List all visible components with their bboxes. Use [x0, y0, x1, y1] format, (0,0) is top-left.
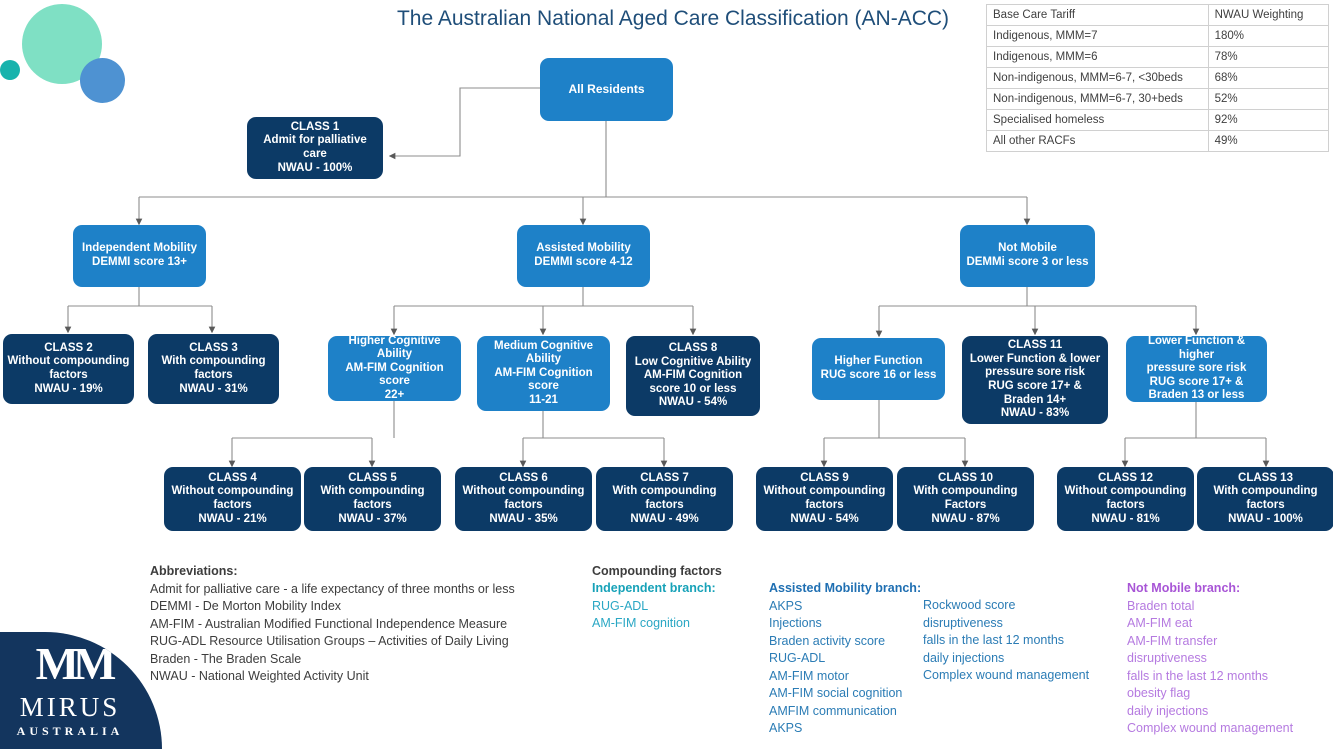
node-medium-cognitive-ability[interactable]: Medium CognitiveAbilityAM-FIM Cognition … — [477, 336, 610, 411]
node-medium-cognitive-ability-text: Medium CognitiveAbilityAM-FIM Cognition … — [481, 340, 606, 408]
node-line: With compounding — [152, 355, 275, 369]
node-class-11[interactable]: CLASS 11Lower Function & lowerpressure s… — [962, 336, 1108, 424]
node-line: NWAU - 81% — [1061, 513, 1190, 527]
node-assisted-mobility[interactable]: Assisted MobilityDEMMI score 4-12 — [517, 225, 650, 287]
independent-branch-item: AM-FIM cognition — [592, 615, 716, 633]
node-line: NWAU - 83% — [966, 407, 1104, 421]
assisted-branch-item: RUG-ADL — [769, 650, 921, 668]
abbreviations-block: Abbreviations: Admit for palliative care… — [150, 563, 515, 686]
node-line: With compounding — [901, 485, 1030, 499]
not-mobile-branch-item: daily injections — [1127, 703, 1293, 721]
node-line: factors — [1061, 499, 1190, 513]
assisted-branch-item: AMFIM communication — [769, 703, 921, 721]
node-line: DEMMI score 4-12 — [521, 256, 646, 270]
node-higher-function-text: Higher FunctionRUG score 16 or less — [816, 355, 941, 382]
node-line: Without compounding — [168, 485, 297, 499]
mirus-monogram-icon: MM — [18, 640, 128, 688]
not-mobile-branch-item: disruptiveness — [1127, 650, 1293, 668]
node-line: CLASS 1 — [251, 121, 379, 135]
node-class-1-text: CLASS 1Admit for palliative careNWAU - 1… — [251, 121, 379, 175]
node-not-mobile-text: Not MobileDEMMi score 3 or less — [964, 242, 1091, 269]
node-line: NWAU - 31% — [152, 383, 275, 397]
node-line: CLASS 11 — [966, 339, 1104, 353]
assisted-branch-list-second-column: Rockwood scoredisruptivenessfalls in the… — [923, 597, 1089, 685]
not-mobile-branch-item: falls in the last 12 months — [1127, 668, 1293, 686]
node-class-5-text: CLASS 5With compoundingfactorsNWAU - 37% — [308, 472, 437, 526]
compounding-factors-heading-block: Compounding factors — [592, 563, 722, 581]
node-line: Low Cognitive Ability — [630, 356, 756, 370]
node-not-mobile[interactable]: Not MobileDEMMi score 3 or less — [960, 225, 1095, 287]
node-class-2[interactable]: CLASS 2Without compoundingfactorsNWAU - … — [3, 334, 134, 404]
not-mobile-branch-heading: Not Mobile branch: — [1127, 580, 1293, 598]
node-class-9-text: CLASS 9Without compoundingfactorsNWAU - … — [760, 472, 889, 526]
node-line: CLASS 4 — [168, 472, 297, 486]
node-class-6[interactable]: CLASS 6Without compoundingfactorsNWAU - … — [455, 467, 592, 531]
assisted-branch-item: AKPS — [769, 720, 921, 738]
assisted-branch-list-2: Rockwood scoredisruptivenessfalls in the… — [923, 597, 1089, 685]
node-independent-mobility[interactable]: Independent MobilityDEMMI score 13+ — [73, 225, 206, 287]
node-line: factors — [168, 499, 297, 513]
node-class-7[interactable]: CLASS 7With compoundingfactorsNWAU - 49% — [596, 467, 733, 531]
node-class-12[interactable]: CLASS 12Without compoundingfactorsNWAU -… — [1057, 467, 1194, 531]
node-line: Higher Function — [816, 355, 941, 369]
mirus-logo-subtitle: AUSTRALIA — [0, 724, 140, 739]
node-class-5[interactable]: CLASS 5With compoundingfactorsNWAU - 37% — [304, 467, 441, 531]
node-line: CLASS 7 — [600, 472, 729, 486]
node-line: Factors — [901, 499, 1030, 513]
node-line: CLASS 5 — [308, 472, 437, 486]
node-all-residents-text: All Residents — [544, 82, 669, 96]
node-class-10[interactable]: CLASS 10With compoundingFactorsNWAU - 87… — [897, 467, 1034, 531]
node-line: With compounding — [1201, 485, 1330, 499]
not-mobile-branch-item: Complex wound management — [1127, 720, 1293, 738]
node-line: Admit for palliative care — [251, 134, 379, 161]
not-mobile-branch-item: Braden total — [1127, 598, 1293, 616]
node-line: CLASS 8 — [630, 342, 756, 356]
node-line: factors — [760, 499, 889, 513]
node-line: Higher Cognitive Ability — [332, 335, 457, 362]
independent-branch-item: RUG-ADL — [592, 598, 716, 616]
node-line: factors — [600, 499, 729, 513]
not-mobile-branch-item: obesity flag — [1127, 685, 1293, 703]
node-line: factors — [459, 499, 588, 513]
assisted-branch-block: Assisted Mobility branch: AKPSInjections… — [769, 580, 921, 738]
node-line: NWAU - 54% — [630, 396, 756, 410]
node-line: CLASS 12 — [1061, 472, 1190, 486]
abbreviation-item: RUG-ADL Resource Utilisation Groups – Ac… — [150, 633, 515, 651]
assisted-branch-item: AM-FIM social cognition — [769, 685, 921, 703]
node-line: score 10 or less — [630, 383, 756, 397]
node-line: pressure sore risk — [966, 366, 1104, 380]
node-higher-cognitive-ability-text: Higher Cognitive AbilityAM-FIM Cognition… — [332, 335, 457, 403]
node-line: RUG score 16 or less — [816, 369, 941, 383]
node-line: NWAU - 87% — [901, 513, 1030, 527]
node-class-12-text: CLASS 12Without compoundingfactorsNWAU -… — [1061, 472, 1190, 526]
node-line: CLASS 9 — [760, 472, 889, 486]
node-line: Without compounding — [1061, 485, 1190, 499]
node-line: Medium Cognitive — [481, 340, 606, 354]
node-line: AM-FIM Cognition score — [481, 367, 606, 394]
mirus-logo-name: MIRUS — [0, 692, 140, 723]
node-line: CLASS 10 — [901, 472, 1030, 486]
node-class-4-text: CLASS 4Without compoundingfactorsNWAU - … — [168, 472, 297, 526]
node-line: Lower Function & lower — [966, 353, 1104, 367]
node-line: With compounding — [308, 485, 437, 499]
abbreviations-heading: Abbreviations: — [150, 563, 515, 581]
node-line: CLASS 13 — [1201, 472, 1330, 486]
node-class-13-text: CLASS 13With compoundingfactorsNWAU - 10… — [1201, 472, 1330, 526]
node-line: Without compounding — [760, 485, 889, 499]
node-class-13[interactable]: CLASS 13With compoundingfactorsNWAU - 10… — [1197, 467, 1333, 531]
not-mobile-branch-block: Not Mobile branch: Braden totalAM-FIM ea… — [1127, 580, 1293, 738]
node-line: CLASS 3 — [152, 342, 275, 356]
node-class-2-text: CLASS 2Without compoundingfactorsNWAU - … — [7, 342, 130, 396]
assisted-branch-item: Braden activity score — [769, 633, 921, 651]
node-line: NWAU - 54% — [760, 513, 889, 527]
node-line: AM-FIM Cognition score — [332, 362, 457, 389]
node-line: 11-21 — [481, 394, 606, 408]
node-line: RUG score 17+ & — [1130, 376, 1263, 390]
independent-branch-heading: Independent branch: — [592, 580, 716, 598]
not-mobile-branch-item: AM-FIM eat — [1127, 615, 1293, 633]
node-class-11-text: CLASS 11Lower Function & lowerpressure s… — [966, 339, 1104, 420]
node-lower-function-text: Lower Function & higherpressure sore ris… — [1130, 335, 1263, 403]
node-line: Without compounding — [459, 485, 588, 499]
node-line: pressure sore risk — [1130, 362, 1263, 376]
node-class-7-text: CLASS 7With compoundingfactorsNWAU - 49% — [600, 472, 729, 526]
assisted-branch-item: AKPS — [769, 598, 921, 616]
node-line: factors — [152, 369, 275, 383]
node-line: DEMMI score 13+ — [77, 256, 202, 270]
assisted-branch-heading: Assisted Mobility branch: — [769, 580, 921, 598]
abbreviation-item: DEMMI - De Morton Mobility Index — [150, 598, 515, 616]
node-line: Lower Function & higher — [1130, 335, 1263, 362]
abbreviations-list: Admit for palliative care - a life expec… — [150, 581, 515, 686]
node-assisted-mobility-text: Assisted MobilityDEMMI score 4-12 — [521, 242, 646, 269]
node-higher-function[interactable]: Higher FunctionRUG score 16 or less — [812, 338, 945, 400]
abbreviation-item: Braden - The Braden Scale — [150, 651, 515, 669]
node-higher-cognitive-ability[interactable]: Higher Cognitive AbilityAM-FIM Cognition… — [328, 336, 461, 401]
not-mobile-branch-item: AM-FIM transfer — [1127, 633, 1293, 651]
assisted-branch-item: Injections — [769, 615, 921, 633]
node-line: NWAU - 49% — [600, 513, 729, 527]
node-class-9[interactable]: CLASS 9Without compoundingfactorsNWAU - … — [756, 467, 893, 531]
assisted-branch-item: falls in the last 12 months — [923, 632, 1089, 650]
node-line: Ability — [481, 353, 606, 367]
abbreviation-item: Admit for palliative care - a life expec… — [150, 581, 515, 599]
independent-branch-list: RUG-ADLAM-FIM cognition — [592, 598, 716, 633]
node-line: DEMMi score 3 or less — [964, 256, 1091, 270]
node-line: Braden 13 or less — [1130, 389, 1263, 403]
node-class-1[interactable]: CLASS 1Admit for palliative careNWAU - 1… — [247, 117, 383, 179]
node-line: CLASS 6 — [459, 472, 588, 486]
node-line: All Residents — [544, 82, 669, 96]
node-class-4[interactable]: CLASS 4Without compoundingfactorsNWAU - … — [164, 467, 301, 531]
node-line: Assisted Mobility — [521, 242, 646, 256]
node-lower-function[interactable]: Lower Function & higherpressure sore ris… — [1126, 336, 1267, 402]
node-class-3[interactable]: CLASS 3With compoundingfactorsNWAU - 31% — [148, 334, 279, 404]
compounding-factors-heading: Compounding factors — [592, 563, 722, 581]
assisted-branch-list: AKPSInjectionsBraden activity scoreRUG-A… — [769, 598, 921, 738]
node-line: NWAU - 35% — [459, 513, 588, 527]
not-mobile-branch-list: Braden totalAM-FIM eatAM-FIM transferdis… — [1127, 598, 1293, 738]
abbreviation-item: AM-FIM - Australian Modified Functional … — [150, 616, 515, 634]
node-line: NWAU - 19% — [7, 383, 130, 397]
node-line: factors — [1201, 499, 1330, 513]
node-line: NWAU - 21% — [168, 513, 297, 527]
node-line: 22+ — [332, 389, 457, 403]
assisted-branch-item: Complex wound management — [923, 667, 1089, 685]
node-line: CLASS 2 — [7, 342, 130, 356]
node-line: Not Mobile — [964, 242, 1091, 256]
abbreviation-item: NWAU - National Weighted Activity Unit — [150, 668, 515, 686]
assisted-branch-item: AM-FIM motor — [769, 668, 921, 686]
assisted-branch-item: daily injections — [923, 650, 1089, 668]
node-class-8-text: CLASS 8Low Cognitive AbilityAM-FIM Cogni… — [630, 342, 756, 410]
node-line: AM-FIM Cognition — [630, 369, 756, 383]
node-line: NWAU - 100% — [251, 162, 379, 176]
node-line: NWAU - 37% — [308, 513, 437, 527]
node-line: Without compounding — [7, 355, 130, 369]
node-line: Independent Mobility — [77, 242, 202, 256]
node-class-8[interactable]: CLASS 8Low Cognitive AbilityAM-FIM Cogni… — [626, 336, 760, 416]
assisted-branch-item: Rockwood score — [923, 597, 1089, 615]
node-line: factors — [308, 499, 437, 513]
independent-branch-block: Independent branch: RUG-ADLAM-FIM cognit… — [592, 580, 716, 633]
assisted-branch-item: disruptiveness — [923, 615, 1089, 633]
node-independent-mobility-text: Independent MobilityDEMMI score 13+ — [77, 242, 202, 269]
node-class-3-text: CLASS 3With compoundingfactorsNWAU - 31% — [152, 342, 275, 396]
node-line: Braden 14+ — [966, 394, 1104, 408]
node-all-residents[interactable]: All Residents — [540, 58, 673, 121]
node-line: RUG score 17+ & — [966, 380, 1104, 394]
node-class-6-text: CLASS 6Without compoundingfactorsNWAU - … — [459, 472, 588, 526]
node-line: With compounding — [600, 485, 729, 499]
node-line: factors — [7, 369, 130, 383]
node-class-10-text: CLASS 10With compoundingFactorsNWAU - 87… — [901, 472, 1030, 526]
node-line: NWAU - 100% — [1201, 513, 1330, 527]
